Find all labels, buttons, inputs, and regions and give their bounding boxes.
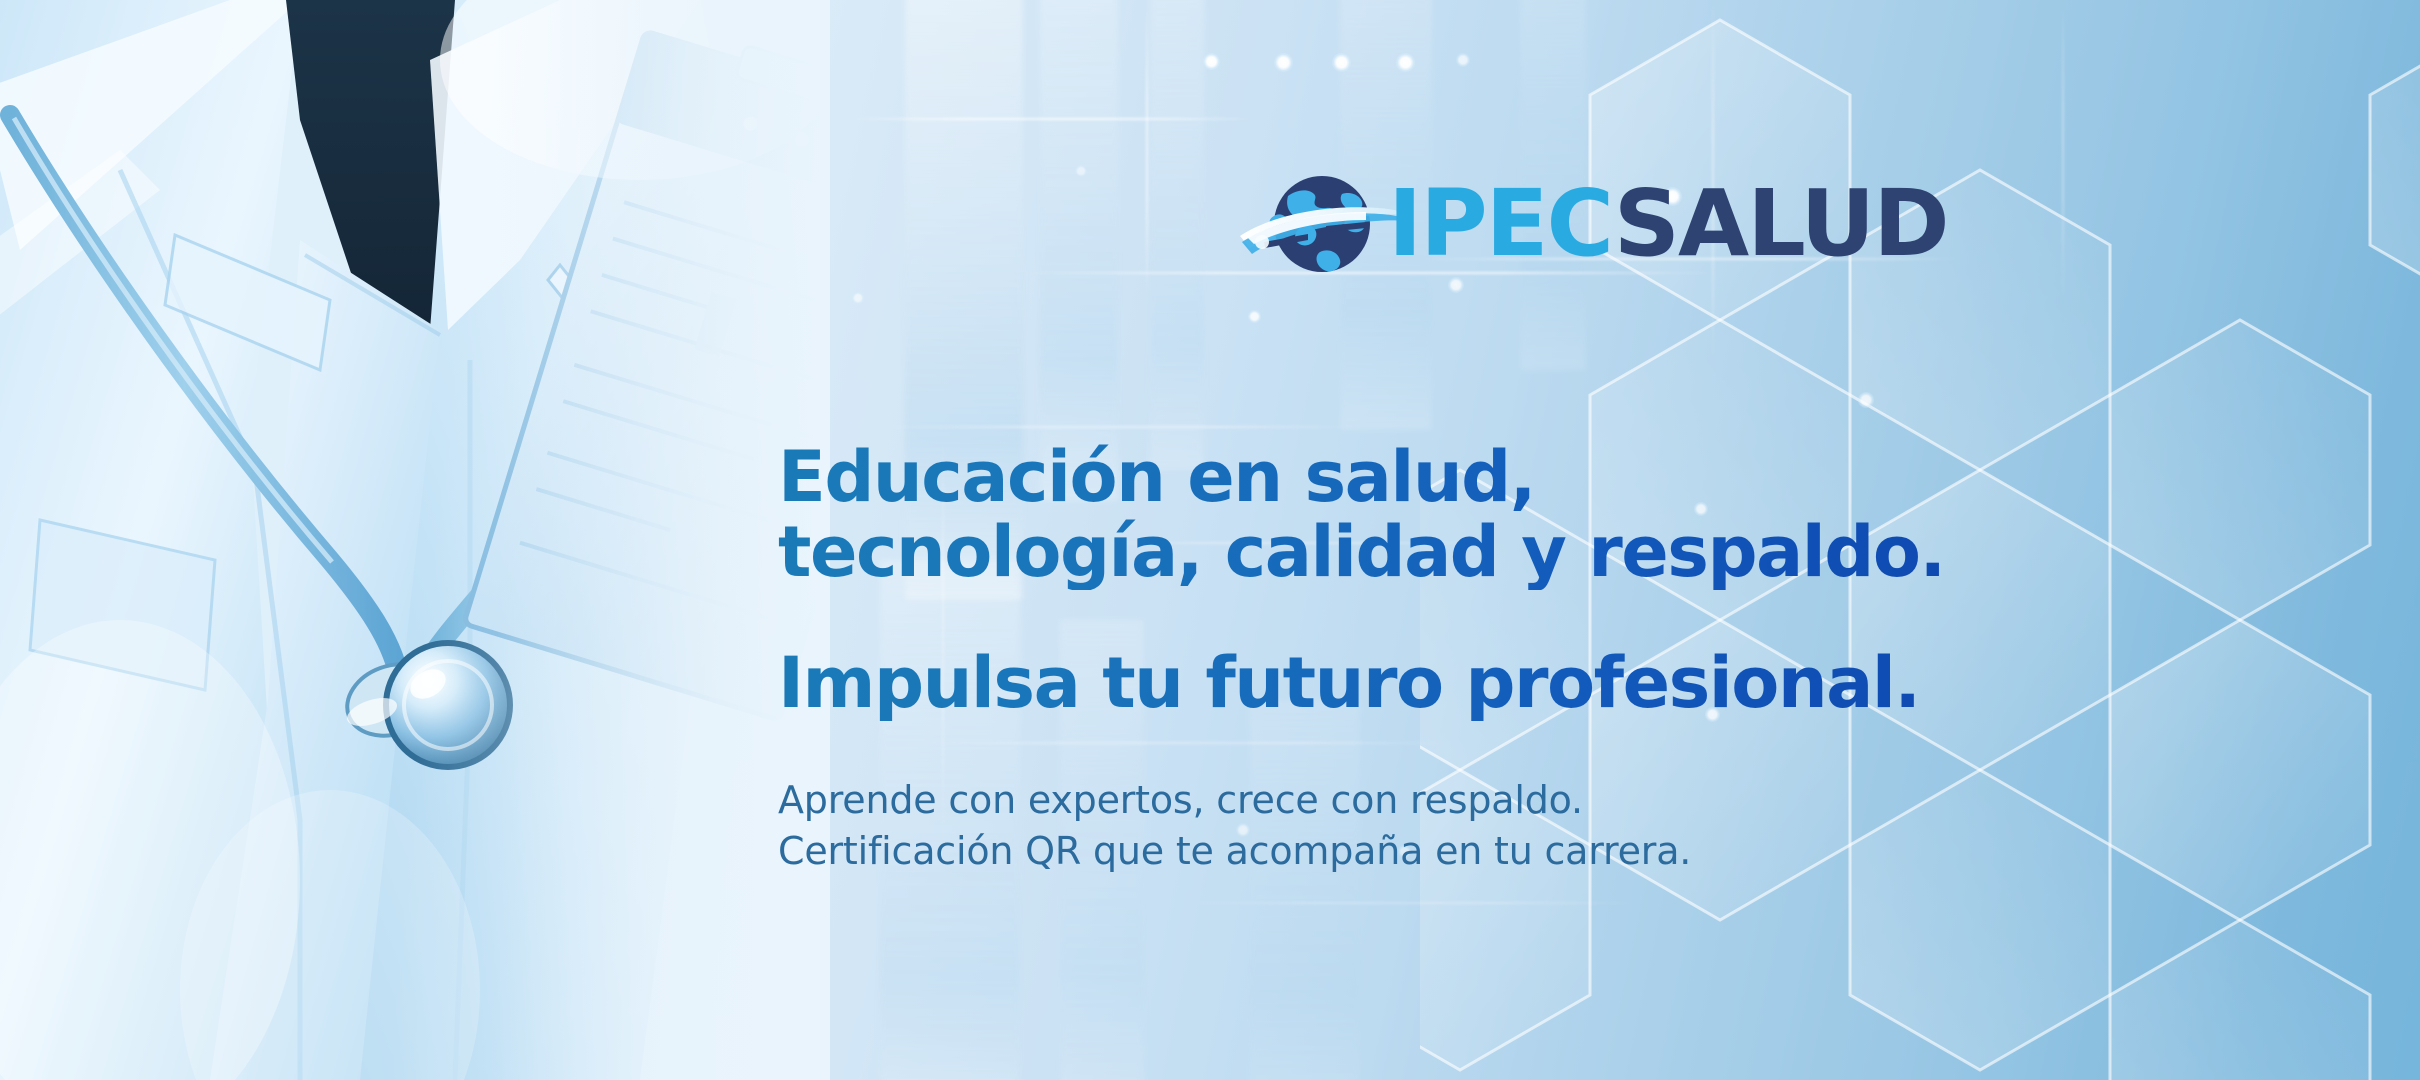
doctor-photo xyxy=(0,0,830,1080)
brand-name-primary: IPEC xyxy=(1388,170,1614,277)
headline-line-1: Educación en salud, xyxy=(778,436,1535,518)
hero-banner: IPECSALUD Educación en salud, tecnología… xyxy=(0,0,2420,1080)
brand-logo[interactable]: IPECSALUD xyxy=(1238,164,1948,284)
globe-swoosh-icon xyxy=(1238,164,1410,284)
brand-wordmark: IPECSALUD xyxy=(1388,178,1948,270)
subtext-line-1: Aprende con expertos, crece con respaldo… xyxy=(778,775,2398,826)
headline-line-2: tecnología, calidad y respaldo. xyxy=(778,511,1945,593)
hero-subtext: Aprende con expertos, crece con respaldo… xyxy=(778,775,2398,877)
headline-primary: Educación en salud, tecnología, calidad … xyxy=(778,440,2398,590)
subtext-line-2: Certificación QR que te acompaña en tu c… xyxy=(778,826,2398,877)
hero-copy: Educación en salud, tecnología, calidad … xyxy=(778,440,2398,876)
brand-name-secondary: SALUD xyxy=(1614,170,1948,277)
headline-secondary: Impulsa tu futuro profesional. xyxy=(778,646,2398,721)
